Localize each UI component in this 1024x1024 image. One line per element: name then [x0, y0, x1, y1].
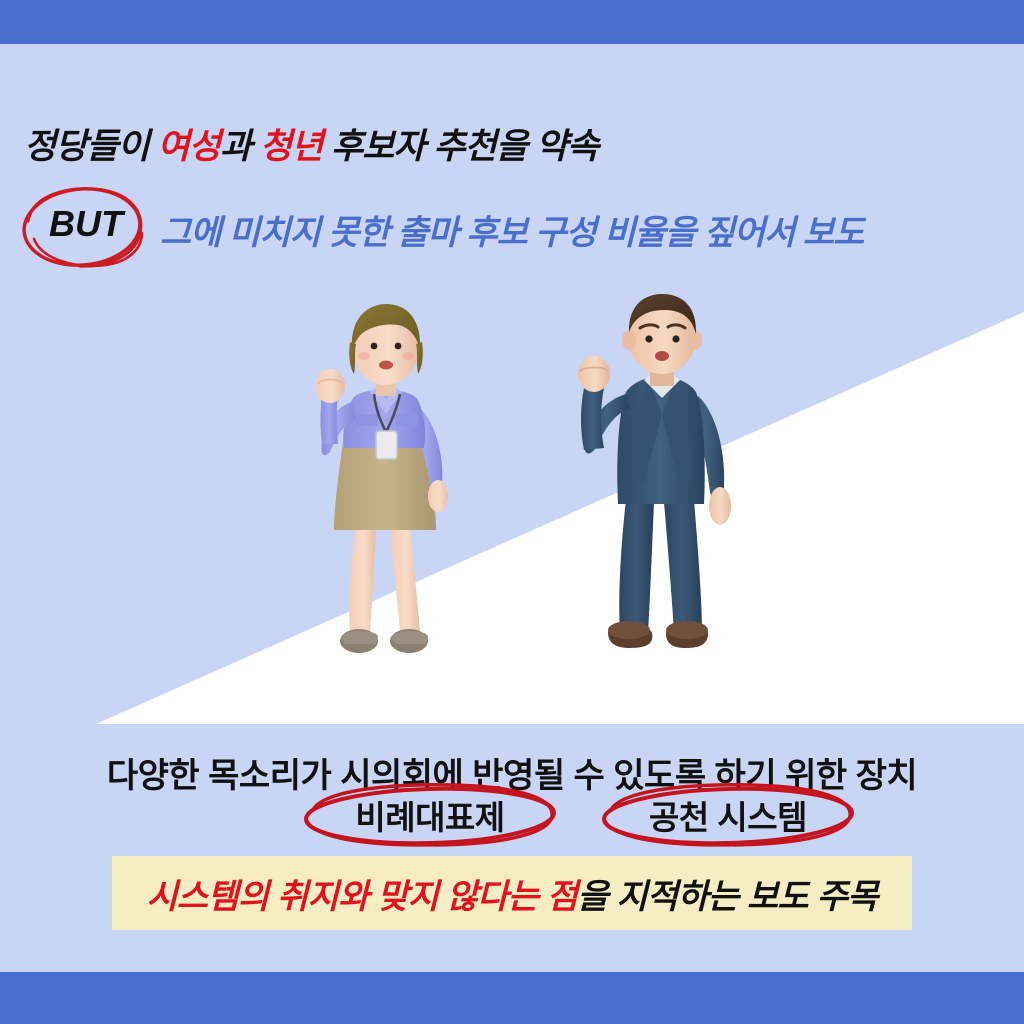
highlight-text: 시스템의 취지와 맞지 않다는 점을 지적하는 보도 주목 — [146, 869, 877, 918]
page-headline: 정당들이 여성과 청년 후보자 추천을 약속 — [24, 118, 598, 169]
headline-part-3: 후보자 추천을 약속 — [322, 127, 598, 166]
figure-male-candidate — [556, 292, 766, 668]
headline-part-1: 정당들이 — [24, 127, 158, 166]
but-badge-label: BUT — [16, 203, 156, 245]
headline-part-2: 과 — [220, 127, 260, 166]
figure-female-candidate — [286, 296, 486, 664]
header-bar — [0, 0, 1024, 44]
circled-term-nomination-system: 공천 시스템 — [594, 782, 862, 848]
highlight-accent-phrase: 시스템의 취지와 맞지 않다는 점 — [146, 878, 577, 916]
highlight-rest-phrase: 을 지적하는 보도 주목 — [577, 878, 877, 916]
sub-headline: 그에 미치지 못한 출마 후보 구성 비율을 짚어서 보도 — [160, 205, 863, 254]
headline-keyword-youth: 청년 — [260, 127, 322, 166]
circled-term-label: 비례대표제 — [296, 782, 564, 848]
headline-keyword-women: 여성 — [158, 127, 220, 166]
footer-bar — [0, 972, 1024, 1024]
highlight-callout-box: 시스템의 취지와 맞지 않다는 점을 지적하는 보도 주목 — [112, 856, 912, 930]
but-badge: BUT — [16, 183, 156, 271]
circled-term-proportional-representation: 비례대표제 — [296, 782, 564, 848]
circled-term-label: 공천 시스템 — [594, 782, 862, 848]
infographic-canvas: 〈여성ㆍ청년 후보 부족, 개혁공천 헛구호〉(부산MBC, 5/17) 보도 … — [0, 0, 1024, 1024]
